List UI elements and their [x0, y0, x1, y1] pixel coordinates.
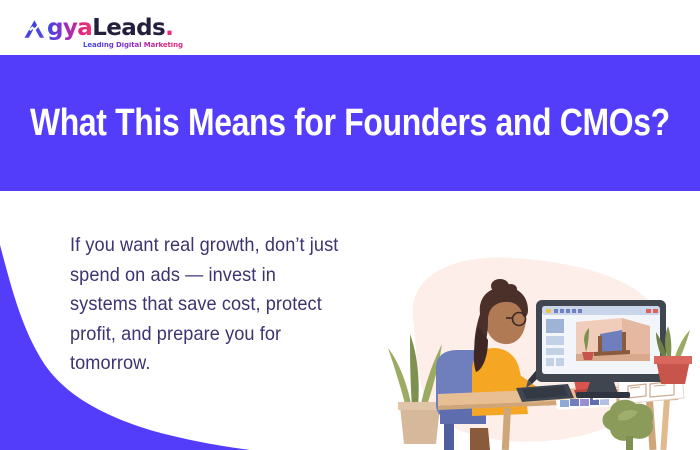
logo-word-gya: gya — [47, 17, 92, 40]
body-paragraph: If you want real growth, don’t just spen… — [70, 231, 340, 379]
logo-tagline: Leading Digital Marketing — [83, 42, 183, 49]
logo-bar: gya Leads . Leading Digital Marketing — [0, 0, 700, 55]
slide-canvas: gya Leads . Leading Digital Marketing Wh… — [0, 0, 700, 450]
page-title: What This Means for Founders and CMOs? — [30, 102, 670, 145]
logo-text: gya Leads . Leading Digital Marketing — [47, 17, 183, 49]
illustration-woman-designer-at-desk — [378, 248, 700, 450]
logo-wordmark: gya Leads . — [47, 17, 183, 40]
logo-dot: . — [165, 17, 173, 40]
brand-logo[interactable]: gya Leads . Leading Digital Marketing — [24, 17, 183, 49]
chevron-a-mark-icon — [24, 18, 46, 40]
heading-band: What This Means for Founders and CMOs? — [0, 55, 700, 191]
logo-word-leads: Leads — [92, 17, 165, 40]
